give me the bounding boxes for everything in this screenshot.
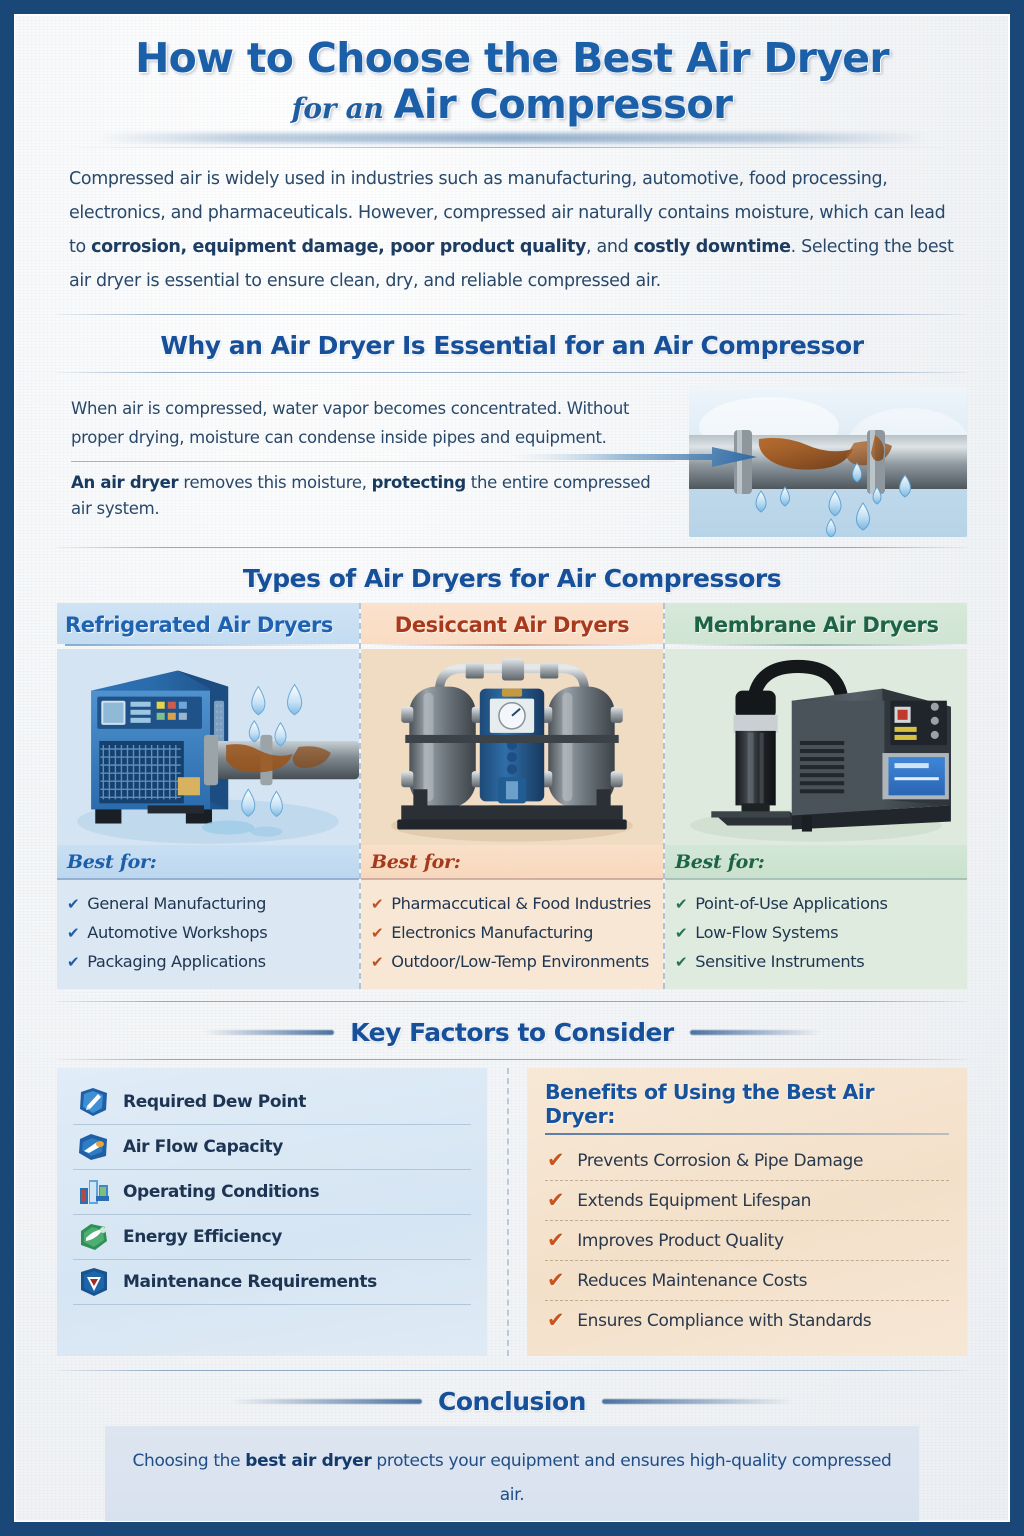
conclusion-bold-1: best air dryer [245, 1451, 371, 1471]
card-title-membrane: Membrane Air Dryers [665, 603, 967, 644]
best-for-label-refrigerated: Best for: [57, 845, 359, 878]
conclusion-heading-row: Conclusion [57, 1377, 967, 1418]
card-desiccant-air-dryers[interactable]: Desiccant Air Dryers [359, 603, 663, 989]
why-bold-1: An air dryer [71, 473, 178, 492]
energy-efficiency-icon [77, 1221, 111, 1253]
key-factor-air-flow-capacity[interactable]: Air Flow Capacity [73, 1125, 471, 1170]
list-item-label: Point-of-Use Applications [695, 894, 887, 914]
key-factor-operating-conditions[interactable]: Operating Conditions [73, 1170, 471, 1215]
heading-rule-right [690, 1030, 820, 1035]
title-block: How to Choose the Best Air Dryer for anA… [57, 15, 967, 148]
dryer-type-cards: Refrigerated Air Dryers [57, 599, 967, 989]
why-mid: removes this moisture, [178, 473, 371, 492]
why-section-heading: Why an Air Dryer Is Essential for an Air… [57, 321, 967, 366]
page-title: How to Choose the Best Air Dryer [57, 37, 967, 80]
benefits-heading: Benefits of Using the Best Air Dryer: [545, 1080, 949, 1133]
list-item-label: Sensitive Instruments [695, 952, 864, 972]
membrane-dryer-illustration [665, 649, 967, 845]
section-divider-1 [57, 314, 967, 315]
benefit-label: Prevents Corrosion & Pipe Damage [577, 1151, 863, 1171]
heading-rule-left [232, 1399, 422, 1404]
check-icon: ✔ [371, 953, 383, 972]
card-title-underline [369, 644, 655, 646]
check-icon: ✔ [547, 1270, 564, 1291]
types-section-heading: Types of Air Dryers for Air Compressors [57, 554, 967, 599]
benefit-label: Ensures Compliance with Standards [577, 1311, 871, 1331]
why-inner-divider [71, 461, 675, 462]
check-icon: ✔ [371, 924, 383, 943]
section-divider-4 [57, 1001, 967, 1002]
best-for-list-refrigerated: ✔General Manufacturing ✔Automotive Works… [57, 880, 359, 989]
conclusion-text-c: Invest in the right air dryer and save [137, 1519, 441, 1522]
list-item-label: Automotive Workshops [87, 923, 267, 943]
section-divider-2 [57, 372, 967, 373]
refrigerated-dryer-illustration [57, 649, 359, 845]
check-icon: ✔ [67, 924, 79, 943]
list-item: ✔Automotive Workshops [67, 919, 349, 948]
title-underline-glow [97, 133, 927, 143]
list-item-label: General Manufacturing [87, 894, 266, 914]
check-icon: ✔ [547, 1230, 564, 1251]
conclusion-heading: Conclusion [438, 1387, 586, 1416]
list-item: ✔Pharmaccutical & Food Industries [371, 889, 653, 918]
key-factor-energy-efficiency[interactable]: Energy Efficiency [73, 1215, 471, 1260]
conclusion-text-b: protects your equipment and ensures high… [371, 1451, 891, 1505]
key-factors-panel: Required Dew Point Air Flow Capacity [57, 1068, 487, 1356]
list-item: ✔Low-Flow Systems [675, 919, 957, 948]
list-item: ✔Prevents Corrosion & Pipe Damage [545, 1141, 949, 1181]
check-icon: ✔ [547, 1310, 564, 1331]
section-divider-5 [57, 1059, 967, 1060]
why-bold-2: protecting [372, 473, 466, 492]
benefits-underline [545, 1133, 949, 1135]
key-factors-heading: Key Factors to Consider [350, 1018, 674, 1047]
card-title-underline [65, 644, 351, 646]
list-item: ✔Outdoor/Low-Temp Environments [371, 948, 653, 977]
best-for-list-desiccant: ✔Pharmaccutical & Food Industries ✔Elect… [361, 880, 663, 989]
list-item-label: Packaging Applications [87, 952, 266, 972]
list-item: ✔Improves Product Quality [545, 1221, 949, 1261]
list-item: ✔Electronics Manufacturing [371, 919, 653, 948]
card-title-underline [673, 644, 959, 646]
key-factor-label: Air Flow Capacity [123, 1137, 283, 1157]
intro-bold-1: corrosion, equipment damage, poor produc… [91, 237, 586, 257]
key-factor-label: Operating Conditions [123, 1182, 319, 1202]
check-icon: ✔ [371, 895, 383, 914]
list-item: ✔Reduces Maintenance Costs [545, 1261, 949, 1301]
card-membrane-air-dryers[interactable]: Membrane Air Dryers [663, 603, 967, 989]
intro-text-b: , and [586, 237, 634, 257]
why-paragraph-1: When air is compressed, water vapor beco… [71, 395, 675, 452]
page-subtitle: for anAir Compressor [57, 84, 967, 126]
dew-point-icon [77, 1086, 111, 1118]
check-icon: ✔ [675, 953, 687, 972]
check-icon: ✔ [675, 924, 687, 943]
benefit-label: Reduces Maintenance Costs [577, 1271, 807, 1291]
infographic-frame: How to Choose the Best Air Dryer for anA… [0, 0, 1024, 1536]
intro-bold-2: costly downtime [634, 237, 791, 257]
benefit-label: Improves Product Quality [577, 1231, 783, 1251]
benefit-label: Extends Equipment Lifespan [577, 1191, 811, 1211]
key-factor-required-dew-point[interactable]: Required Dew Point [73, 1080, 471, 1125]
check-icon: ✔ [67, 895, 79, 914]
list-item: ✔Ensures Compliance with Standards [545, 1301, 949, 1340]
benefits-list: ✔Prevents Corrosion & Pipe Damage ✔Exten… [545, 1141, 949, 1340]
best-for-list-membrane: ✔Point-of-Use Applications ✔Low-Flow Sys… [665, 880, 967, 989]
list-item-label: Outdoor/Low-Temp Environments [391, 952, 649, 972]
list-item-label: Low-Flow Systems [695, 923, 838, 943]
subtitle-prefix: for an [292, 92, 384, 125]
key-factor-label: Maintenance Requirements [123, 1272, 377, 1292]
infographic-paper: How to Choose the Best Air Dryer for anA… [14, 14, 1010, 1522]
key-factor-label: Energy Efficiency [123, 1227, 282, 1247]
list-item-label: Electronics Manufacturing [391, 923, 593, 943]
check-icon: ✔ [67, 953, 79, 972]
benefits-panel: Benefits of Using the Best Air Dryer: ✔P… [527, 1068, 967, 1356]
conclusion-bold-2: time, money [441, 1519, 557, 1522]
key-factor-label: Required Dew Point [123, 1092, 306, 1112]
list-item: ✔Packaging Applications [67, 948, 349, 977]
heading-rule-left [204, 1030, 334, 1035]
conclusion-text-a: Choosing the [133, 1451, 246, 1471]
section-divider-6 [57, 1370, 967, 1371]
list-item-label: Pharmaccutical & Food Industries [391, 894, 651, 914]
best-for-label-membrane: Best for: [665, 845, 967, 878]
card-title-refrigerated: Refrigerated Air Dryers [57, 603, 359, 644]
why-text-block: When air is compressed, water vapor beco… [57, 385, 689, 537]
key-factors-heading-row: Key Factors to Consider [57, 1008, 967, 1053]
subtitle-main: Air Compressor [394, 82, 733, 128]
conclusion-box: Choosing the best air dryer protects you… [105, 1426, 919, 1522]
key-factor-maintenance-requirements[interactable]: Maintenance Requirements [73, 1260, 471, 1305]
list-item: ✔Sensitive Instruments [675, 948, 957, 977]
check-icon: ✔ [675, 895, 687, 914]
operating-conditions-icon [77, 1176, 111, 1208]
key-factors-section: Required Dew Point Air Flow Capacity [57, 1066, 967, 1356]
key-factors-divider [487, 1068, 509, 1356]
list-item: ✔Extends Equipment Lifespan [545, 1181, 949, 1221]
conclusion-line-2: Invest in the right air dryer and save t… [131, 1512, 893, 1522]
maintenance-icon [77, 1266, 111, 1298]
check-icon: ✔ [547, 1190, 564, 1211]
card-title-desiccant: Desiccant Air Dryers [361, 603, 663, 644]
air-flow-icon [77, 1131, 111, 1163]
conclusion-text-d: , and maintenance costs in the long run. [557, 1519, 888, 1522]
conclusion-line-1: Choosing the best air dryer protects you… [131, 1444, 893, 1512]
section-divider-3 [57, 547, 967, 548]
best-for-label-desiccant: Best for: [361, 845, 663, 878]
check-icon: ✔ [547, 1150, 564, 1171]
desiccant-dryer-illustration [361, 649, 663, 845]
intro-paragraph: Compressed air is widely used in industr… [57, 148, 967, 309]
why-paragraph-2: An air dryer removes this moisture, prot… [71, 470, 675, 523]
heading-rule-right [602, 1399, 792, 1404]
list-item: ✔Point-of-Use Applications [675, 889, 957, 918]
list-item: ✔General Manufacturing [67, 889, 349, 918]
card-refrigerated-air-dryers[interactable]: Refrigerated Air Dryers [57, 603, 359, 989]
why-section: When air is compressed, water vapor beco… [57, 379, 967, 541]
